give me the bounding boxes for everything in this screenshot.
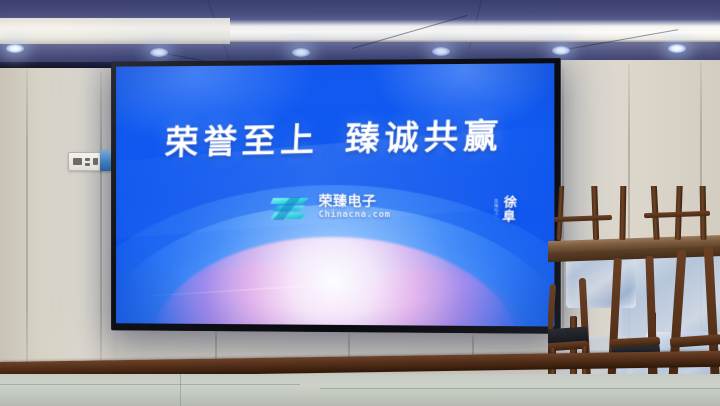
recessed-downlight <box>292 48 310 57</box>
recessed-downlight <box>668 44 686 53</box>
calligraphy-signature: 荣臻电子 徐阜 <box>494 195 515 223</box>
floor <box>0 374 720 406</box>
wall-switch-plate[interactable] <box>68 152 102 171</box>
wooden-chair-leg <box>556 186 564 240</box>
signature-big-text: 徐阜 <box>499 195 515 223</box>
slogan-phrase-2: 臻诚共赢 <box>344 116 504 159</box>
furniture-group <box>548 186 720 406</box>
recessed-downlight <box>150 48 168 57</box>
switch-rocker[interactable] <box>85 158 90 161</box>
room-photo-scene: 荣誉至上臻诚共赢 <box>0 0 720 406</box>
blue-network-module[interactable] <box>100 150 111 171</box>
recessed-downlight <box>552 46 570 55</box>
wall-panel-seam <box>100 72 102 368</box>
signature-small-text: 荣臻电子 <box>494 199 499 217</box>
ceiling-soffit-left <box>0 18 230 44</box>
floor-tile-seam <box>320 388 720 389</box>
switch-rocker[interactable] <box>93 158 98 165</box>
wooden-chair-leg <box>619 186 626 240</box>
wooden-chair-rail <box>554 215 612 222</box>
wall-panel-seam <box>26 70 28 370</box>
screen-arc-pink-right <box>324 268 528 327</box>
recessed-downlight <box>6 44 24 53</box>
recessed-downlight <box>432 47 450 56</box>
floor-tile-seam <box>180 374 181 406</box>
switch-rocker[interactable] <box>73 158 82 165</box>
led-display-wall[interactable]: 荣誉至上臻诚共赢 <box>111 58 560 334</box>
wooden-chair-leg <box>591 186 599 240</box>
floor-tile-seam <box>0 384 300 385</box>
display-screen[interactable]: 荣誉至上臻诚共赢 <box>116 63 554 326</box>
switch-rocker[interactable] <box>85 163 90 166</box>
screen-vignette <box>116 63 554 326</box>
